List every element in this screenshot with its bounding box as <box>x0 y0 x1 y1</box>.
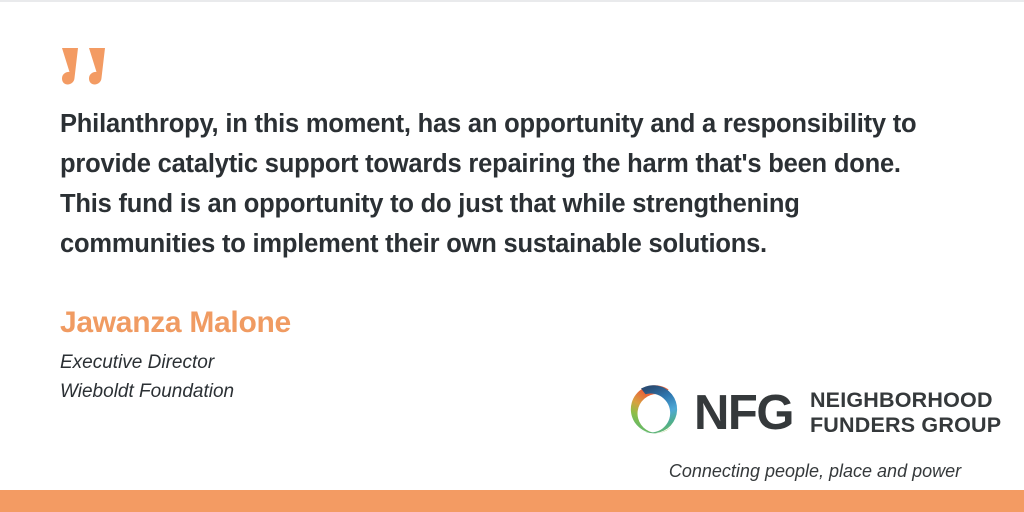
logo-acronym: NFG <box>694 388 793 438</box>
quote-text: Philanthropy, in this moment, has an opp… <box>60 104 940 264</box>
attribution-block: Jawanza Malone Executive Director Wiebol… <box>60 305 580 406</box>
nfg-swirl-ring-icon <box>624 382 686 444</box>
logo-lockup-row: NFG NEIGHBORHOOD FUNDERS GROUP <box>624 378 1006 448</box>
opening-quotation-mark-icon <box>58 46 128 94</box>
top-rule-divider <box>0 0 1024 2</box>
logo-wordmark: NEIGHBORHOOD FUNDERS GROUP <box>810 388 1001 438</box>
attribution-organization: Wieboldt Foundation <box>60 377 580 406</box>
quote-body: Philanthropy, in this moment, has an opp… <box>60 104 940 264</box>
nfg-logo: NFG NEIGHBORHOOD FUNDERS GROUP Connectin… <box>624 378 1006 478</box>
attribution-role: Executive Director <box>60 348 580 377</box>
logo-name-line-2: FUNDERS GROUP <box>810 413 1001 438</box>
bottom-accent-bar <box>0 490 1024 512</box>
logo-name-line-1: NEIGHBORHOOD <box>810 388 1001 413</box>
logo-tagline: Connecting people, place and power <box>624 448 1006 482</box>
attribution-name: Jawanza Malone <box>60 305 580 341</box>
quote-card: Philanthropy, in this moment, has an opp… <box>0 0 1024 512</box>
